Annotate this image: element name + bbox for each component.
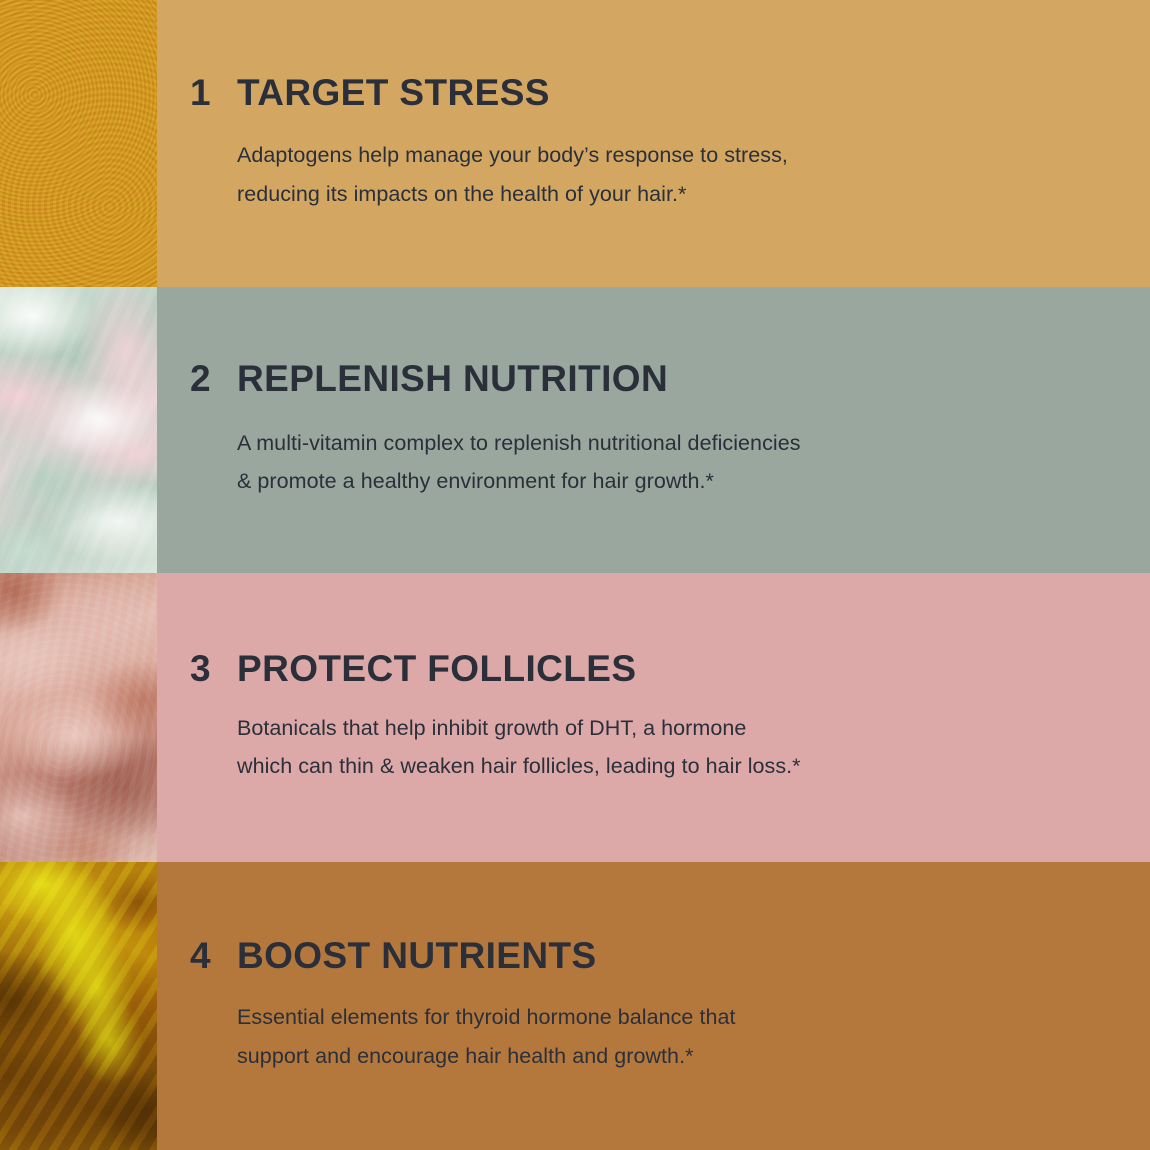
benefit-number-4: 4: [190, 937, 237, 974]
benefit-heading-4: 4 BOOST NUTRIENTS: [190, 937, 1150, 974]
benefit-title-3: PROTECT FOLLICLES: [237, 650, 636, 687]
benefit-title-4: BOOST NUTRIENTS: [237, 937, 597, 974]
benefit-body-line: which can thin & weaken hair follicles, …: [237, 747, 1150, 785]
benefit-section-4: 4 BOOST NUTRIENTS Essential elements for…: [0, 862, 1150, 1150]
benefit-body-3: Botanicals that help inhibit growth of D…: [190, 709, 1150, 786]
benefit-section-1: 1 TARGET STRESS Adaptogens help manage y…: [0, 0, 1150, 287]
thumbnail-mint-pink-watercolor-texture: [0, 287, 157, 573]
benefit-number-3: 3: [190, 650, 237, 687]
benefits-list: 1 TARGET STRESS Adaptogens help manage y…: [0, 0, 1150, 1150]
benefit-heading-2: 2 REPLENISH NUTRITION: [190, 360, 1150, 397]
benefit-heading-3: 3 PROTECT FOLLICLES: [190, 650, 1150, 687]
thumbnail-gold-leaf-texture: [0, 0, 157, 287]
benefit-body-2: A multi-vitamin complex to replenish nut…: [190, 424, 1150, 501]
benefit-panel-2: 2 REPLENISH NUTRITION A multi-vitamin co…: [157, 287, 1150, 573]
thumbnail-yellow-amber-swirl-texture: [0, 862, 157, 1150]
benefit-body-line: & promote a healthy environment for hair…: [237, 462, 1150, 500]
benefit-body-line: Adaptogens help manage your body’s respo…: [237, 136, 1150, 174]
benefit-body-line: Botanicals that help inhibit growth of D…: [237, 709, 1150, 747]
benefit-panel-4: 4 BOOST NUTRIENTS Essential elements for…: [157, 862, 1150, 1150]
benefit-number-2: 2: [190, 360, 237, 397]
benefit-panel-3: 3 PROTECT FOLLICLES Botanicals that help…: [157, 573, 1150, 862]
benefit-body-1: Adaptogens help manage your body’s respo…: [190, 136, 1150, 213]
thumbnail-rose-marble-texture: [0, 573, 157, 862]
benefit-body-4: Essential elements for thyroid hormone b…: [190, 998, 1150, 1075]
benefit-number-1: 1: [190, 74, 237, 111]
benefit-section-3: 3 PROTECT FOLLICLES Botanicals that help…: [0, 573, 1150, 862]
benefit-body-line: reducing its impacts on the health of yo…: [237, 175, 1150, 213]
benefit-body-line: Essential elements for thyroid hormone b…: [237, 998, 1150, 1036]
benefit-body-line: A multi-vitamin complex to replenish nut…: [237, 424, 1150, 462]
benefit-section-2: 2 REPLENISH NUTRITION A multi-vitamin co…: [0, 287, 1150, 573]
benefit-body-line: support and encourage hair health and gr…: [237, 1037, 1150, 1075]
benefit-title-2: REPLENISH NUTRITION: [237, 360, 668, 397]
benefit-panel-1: 1 TARGET STRESS Adaptogens help manage y…: [157, 0, 1150, 287]
benefit-title-1: TARGET STRESS: [237, 74, 550, 111]
benefit-heading-1: 1 TARGET STRESS: [190, 74, 1150, 111]
